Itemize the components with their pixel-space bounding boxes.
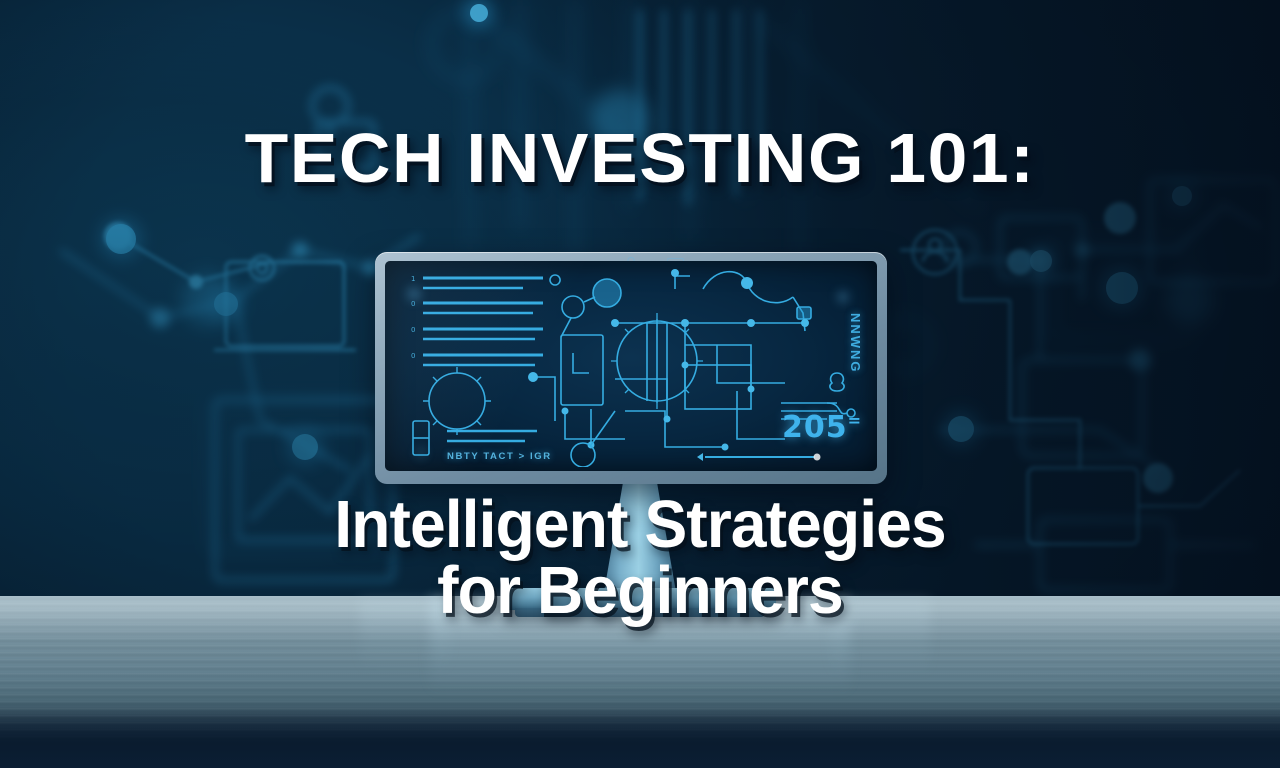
title-card-image: 1 0 0 0 NNWNG 205= NBTY TACT > IGR TECH … xyxy=(0,0,1280,768)
svg-text:0: 0 xyxy=(411,300,415,308)
screen-number-suffix: = xyxy=(848,411,861,430)
svg-text:0: 0 xyxy=(411,352,415,360)
screen-vertical-label: NNWNG xyxy=(848,313,863,374)
svg-text:1: 1 xyxy=(411,275,415,283)
screen-bottom-label: NBTY TACT > IGR xyxy=(447,451,552,462)
monitor-screen: 1 0 0 0 NNWNG 205= NBTY TACT > IGR xyxy=(385,261,877,471)
subtitle-line-1: Intelligent Strategies xyxy=(26,492,1255,558)
desktop-monitor: 1 0 0 0 NNWNG 205= NBTY TACT > IGR xyxy=(375,252,887,484)
screen-number-readout: 205= xyxy=(782,410,861,445)
page-title: TECH INVESTING 101: xyxy=(0,118,1280,198)
page-subtitle: Intelligent Strategies for Beginners xyxy=(0,492,1280,623)
screen-number-value: 205 xyxy=(782,410,848,445)
subtitle-line-2: for Beginners xyxy=(26,558,1255,624)
svg-text:0: 0 xyxy=(411,326,415,334)
desk-foreground-shadow xyxy=(0,710,1280,768)
